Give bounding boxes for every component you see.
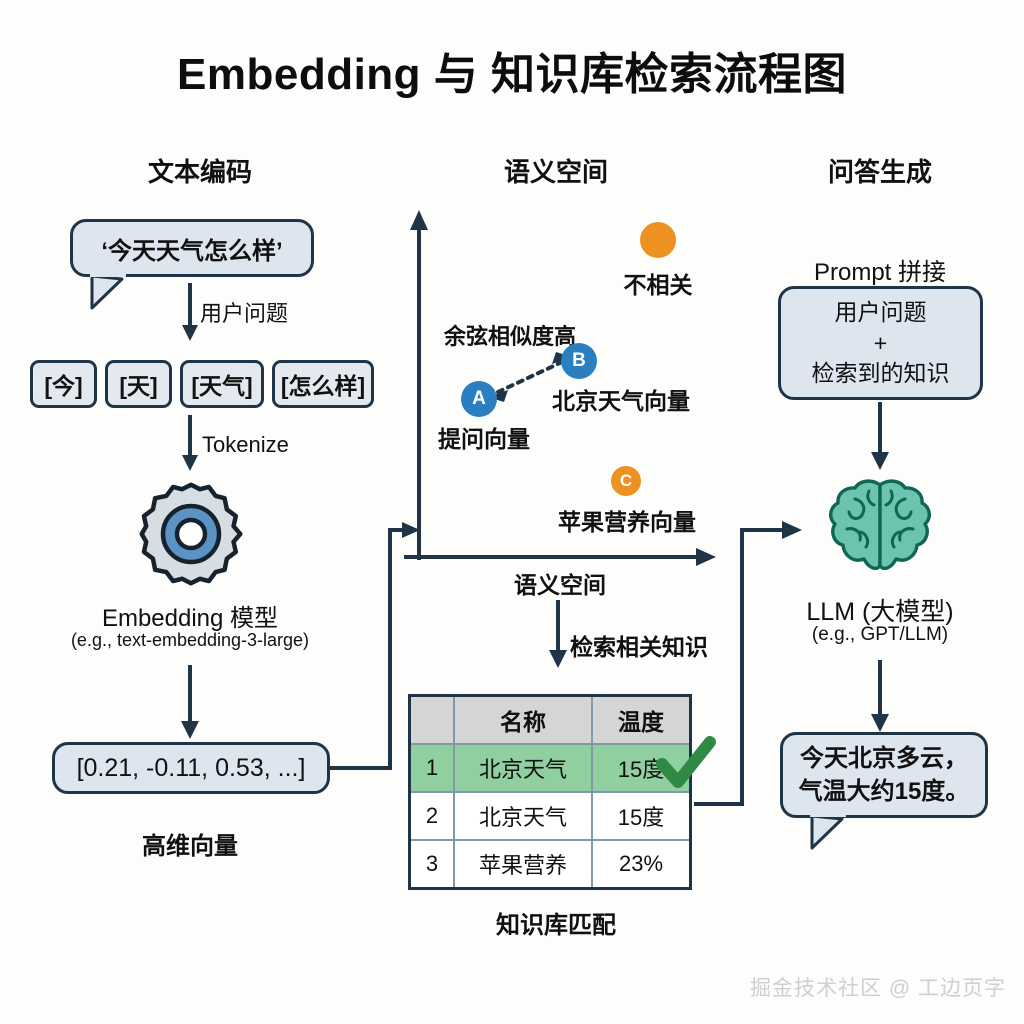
scatter-point-orange-unrelated — [640, 222, 676, 258]
knowledge-base-table: 名称 温度 1 北京天气 15度 2 北京天气 15度 3 苹果营养 23% — [408, 694, 692, 890]
embedding-model-example: (e.g., text-embedding-3-large) — [71, 630, 309, 651]
llm-example: (e.g., GPT/LLM) — [812, 624, 948, 646]
column-heading-semantic-space: 语义空间 — [504, 152, 608, 189]
arrow-label-tokenize: Tokenize — [202, 432, 289, 458]
scatter-label-unrelated: 不相关 — [624, 266, 693, 300]
prompt-concat-label: Prompt 拼接 — [814, 252, 946, 287]
row-temperature: 23% — [592, 840, 691, 889]
answer-bubble-tail — [790, 810, 860, 856]
prompt-line-user-question: 用户问题 — [835, 297, 927, 327]
token-chip: [天气] — [180, 360, 264, 408]
embedding-model-name: Embedding 模型 — [102, 598, 278, 633]
table-header-name: 名称 — [454, 696, 592, 745]
row-name: 北京天气 — [454, 792, 592, 840]
x-axis-label: 语义空间 — [514, 566, 606, 600]
table-row[interactable]: 3 苹果营养 23% — [410, 840, 691, 889]
page-title: Embedding 与 知识库检索流程图 — [177, 38, 847, 102]
arrow-prompt-to-llm — [860, 402, 900, 474]
token-chip: [今] — [30, 360, 97, 408]
scatter-label-question-vector: 提问向量 — [438, 420, 530, 454]
table-row[interactable]: 1 北京天气 15度 — [410, 744, 691, 792]
table-header-index — [410, 696, 455, 745]
arrow-llm-to-answer — [860, 660, 900, 736]
prompt-line-plus: + — [874, 328, 887, 358]
arrow-label-retrieve-knowledge: 检索相关知识 — [570, 628, 708, 662]
table-caption: 知识库匹配 — [496, 905, 616, 940]
row-name: 北京天气 — [454, 744, 592, 792]
embedding-vector-box: [0.21, -0.11, 0.53, ...] — [52, 742, 330, 794]
scatter-label-apple-nutrition-vector: 苹果营养向量 — [558, 503, 696, 537]
table-header-row: 名称 温度 — [410, 696, 691, 745]
cosine-similarity-label: 余弦相似度高 — [444, 319, 576, 351]
row-name: 苹果营养 — [454, 840, 592, 889]
arrow-model-to-vector — [170, 665, 210, 743]
token-chip: [天] — [105, 360, 172, 408]
user-question-text: ‘今天天气怎么样’ — [101, 231, 282, 266]
vector-caption: 高维向量 — [142, 826, 238, 861]
answer-bubble: 今天北京多云， 气温大约15度。 — [780, 732, 988, 818]
arrow-label-user-question: 用户问题 — [200, 296, 288, 328]
prompt-line-retrieved-knowledge: 检索到的知识 — [812, 358, 950, 388]
prompt-box: 用户问题 + 检索到的知识 — [778, 286, 983, 400]
scatter-point-a: A — [461, 381, 497, 417]
brain-icon — [822, 477, 938, 581]
embedding-vector-value: [0.21, -0.11, 0.53, ...] — [77, 754, 306, 783]
token-chip: [怎么样] — [272, 360, 374, 408]
scatter-label-beijing-weather-vector: 北京天气向量 — [552, 382, 690, 416]
question-bubble-tail — [70, 270, 140, 315]
scatter-point-c: C — [611, 466, 641, 496]
column-heading-qa-generation: 问答生成 — [828, 152, 932, 189]
watermark: 掘金技术社区 @ 工边页字 — [750, 972, 1006, 1002]
scatter-point-b: B — [561, 343, 597, 379]
user-question-bubble: ‘今天天气怎么样’ — [70, 219, 314, 277]
answer-line-2: 气温大约15度。 — [799, 775, 970, 808]
row-index: 3 — [410, 840, 455, 889]
row-index: 1 — [410, 744, 455, 792]
llm-name: LLM (大模型) — [806, 592, 953, 628]
row-temperature: 15度 — [592, 792, 691, 840]
table-row[interactable]: 2 北京天气 15度 — [410, 792, 691, 840]
gear-icon — [135, 478, 247, 590]
column-heading-text-encoding: 文本编码 — [148, 152, 252, 189]
row-index: 2 — [410, 792, 455, 840]
semantic-space-y-axis — [404, 208, 434, 568]
answer-line-1: 今天北京多云， — [800, 742, 968, 775]
